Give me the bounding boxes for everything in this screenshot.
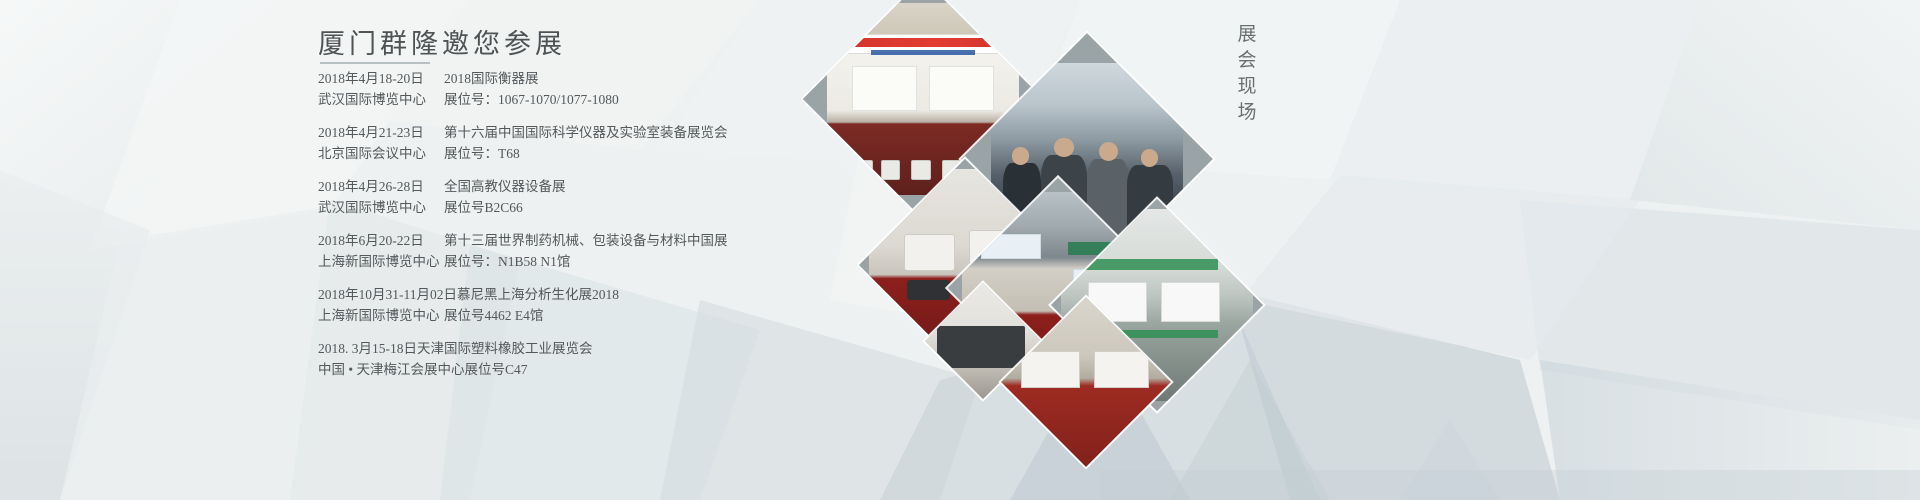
list-item: 2018年4月21-23日第十六届中国国际科学仪器及实验室装备展览会 北京国际会… [318,122,878,164]
event-venue: 北京国际会议中心 [318,143,444,164]
list-item: 2018年6月20-22日第十三届世界制药机械、包装设备与材料中国展 上海新国际… [318,230,878,272]
event-name: 全国高教仪器设备展 [444,176,566,197]
vertical-char-2: 会 [1233,48,1263,74]
event-booth: 展位号：T68 [444,143,520,164]
event-name: 2018国际衡器展 [444,68,539,89]
event-row-bottom: 中国 • 天津梅江会展中心展位号C47 [318,359,878,380]
event-row-bottom: 北京国际会议中心展位号：T68 [318,143,878,164]
exhibition-invitation-banner: 厦门群隆邀您参展 2018年4月18-20日2018国际衡器展 武汉国际博览中心… [0,0,1920,500]
page-title: 厦门群隆邀您参展 [318,22,566,61]
event-row-top: 2018. 3月15-18日天津国际塑料橡胶工业展览会 [318,338,878,359]
vertical-char-3: 现 [1233,74,1263,100]
event-venue: 中国 • 天津梅江会展中心 [318,359,464,380]
event-booth: 展位号B2C66 [444,197,523,218]
schedule-panel: 厦门群隆邀您参展 2018年4月18-20日2018国际衡器展 武汉国际博览中心… [0,0,900,500]
event-name: 第十六届中国国际科学仪器及实验室装备展览会 [444,122,728,143]
event-row-bottom: 上海新国际博览中心展位号：N1B58 N1馆 [318,251,878,272]
list-item: 2018年10月31-11月02日慕尼黑上海分析生化展2018 上海新国际博览中… [318,284,878,326]
vertical-char-4: 场 [1233,100,1263,126]
event-venue: 武汉国际博览中心 [318,89,444,110]
event-venue: 武汉国际博览中心 [318,197,444,218]
event-date: 2018年4月26-28日 [318,176,444,197]
event-row-bottom: 武汉国际博览中心展位号：1067-1070/1077-1080 [318,89,878,110]
event-booth: 展位号：N1B58 N1馆 [444,251,570,272]
event-date: 2018年6月20-22日 [318,230,444,251]
event-row-top: 2018年10月31-11月02日慕尼黑上海分析生化展2018 [318,284,878,305]
event-booth: 展位号4462 E4馆 [444,305,543,326]
title-underline [320,62,430,64]
list-item: 2018年4月18-20日2018国际衡器展 武汉国际博览中心展位号：1067-… [318,68,878,110]
event-list: 2018年4月18-20日2018国际衡器展 武汉国际博览中心展位号：1067-… [318,68,878,392]
photo-collage [830,0,1190,420]
collage-vertical-label: 展 会 现 场 [1233,22,1263,126]
event-name: 第十三届世界制药机械、包装设备与材料中国展 [444,230,728,251]
event-row-bottom: 上海新国际博览中心展位号4462 E4馆 [318,305,878,326]
event-booth: 展位号：1067-1070/1077-1080 [444,89,619,110]
event-booth: 展位号C47 [464,359,527,380]
event-row-top: 2018年4月18-20日2018国际衡器展 [318,68,878,89]
vertical-char-1: 展 [1233,22,1263,48]
event-date: 2018年4月18-20日 [318,68,444,89]
event-venue: 上海新国际博览中心 [318,305,444,326]
event-row-top: 2018年4月21-23日第十六届中国国际科学仪器及实验室装备展览会 [318,122,878,143]
event-name: 慕尼黑上海分析生化展2018 [457,284,619,305]
event-row-top: 2018年6月20-22日第十三届世界制药机械、包装设备与材料中国展 [318,230,878,251]
event-venue: 上海新国际博览中心 [318,251,444,272]
event-row-bottom: 武汉国际博览中心展位号B2C66 [318,197,878,218]
event-row-top: 2018年4月26-28日全国高教仪器设备展 [318,176,878,197]
list-item: 2018年4月26-28日全国高教仪器设备展 武汉国际博览中心展位号B2C66 [318,176,878,218]
list-item: 2018. 3月15-18日天津国际塑料橡胶工业展览会 中国 • 天津梅江会展中… [318,338,878,380]
event-date: 2018年10月31-11月02日 [318,284,457,305]
event-date: 2018. 3月15-18日天津国际塑料橡胶工业展览会 [318,338,593,359]
event-date: 2018年4月21-23日 [318,122,444,143]
